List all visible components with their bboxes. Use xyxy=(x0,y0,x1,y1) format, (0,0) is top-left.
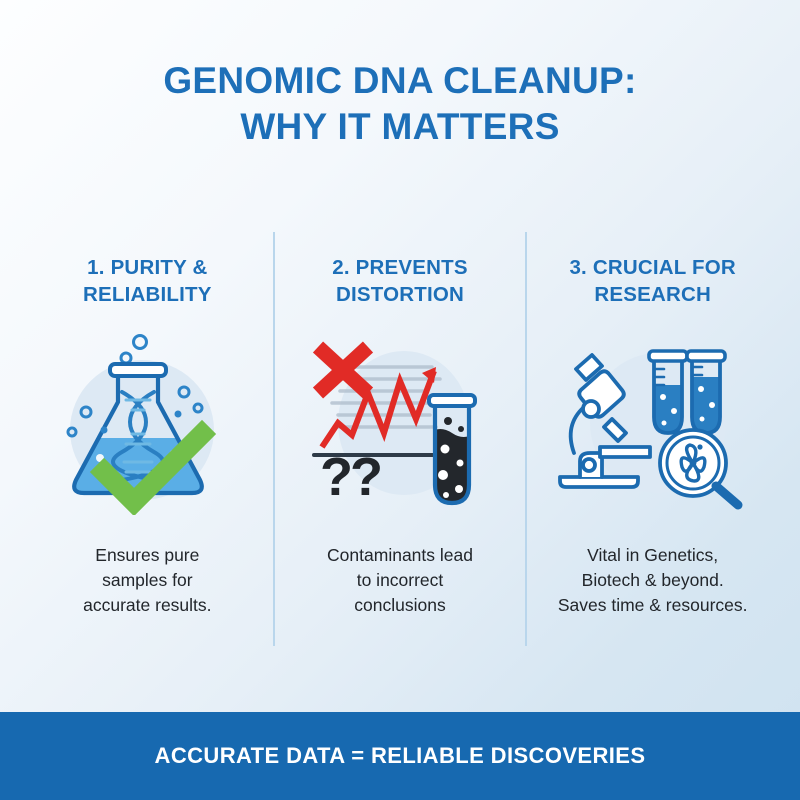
column-2-caption-line-2: to incorrect xyxy=(327,568,473,593)
column-1-caption-line-2: samples for xyxy=(83,568,211,593)
column-2-caption: Contaminants lead to incorrect conclusio… xyxy=(327,543,473,646)
column-3-heading-line-1: 3. CRUCIAL FOR xyxy=(569,254,735,281)
question-mark-1: ? xyxy=(320,447,353,507)
column-1-heading: 1. PURITY & RELIABILITY xyxy=(83,254,212,308)
microscope-testtubes-magnifier-icon xyxy=(550,335,755,510)
column-1-caption-line-1: Ensures pure xyxy=(83,543,211,568)
column-2-heading: 2. PREVENTS DISTORTION xyxy=(332,254,468,308)
column-1-caption: Ensures pure samples for accurate result… xyxy=(83,543,211,646)
columns-container: 1. PURITY & RELIABILITY xyxy=(22,232,778,646)
column-2-caption-line-3: conclusions xyxy=(327,593,473,618)
column-3-heading: 3. CRUCIAL FOR RESEARCH xyxy=(569,254,735,308)
column-1-caption-line-3: accurate results. xyxy=(83,593,211,618)
column-3-caption-line-3: Saves time & resources. xyxy=(558,593,748,618)
column-prevents-distortion: 2. PREVENTS DISTORTION xyxy=(275,232,526,646)
column-2-heading-line-2: DISTORTION xyxy=(332,281,468,308)
footer-banner: ACCURATE DATA = RELIABLE DISCOVERIES xyxy=(0,712,800,800)
title-line-1: GENOMIC DNA CLEANUP: xyxy=(0,58,800,104)
column-1-heading-line-1: 1. PURITY & xyxy=(83,254,212,281)
column-purity-reliability: 1. PURITY & RELIABILITY xyxy=(22,232,273,646)
column-crucial-for-research: 3. CRUCIAL FOR RESEARCH xyxy=(527,232,778,646)
column-3-caption-line-1: Vital in Genetics, xyxy=(558,543,748,568)
column-3-heading-line-2: RESEARCH xyxy=(569,281,735,308)
title-line-2: WHY IT MATTERS xyxy=(0,104,800,150)
footer-tagline: ACCURATE DATA = RELIABLE DISCOVERIES xyxy=(155,743,646,769)
column-1-heading-line-2: RELIABILITY xyxy=(83,281,212,308)
error-chart-testtube-icon: ? ? xyxy=(300,337,500,509)
flask-dna-checkmark-icon xyxy=(42,330,252,515)
column-2-heading-line-1: 2. PREVENTS xyxy=(332,254,468,281)
infographic-canvas: GENOMIC DNA CLEANUP: WHY IT MATTERS 1. P… xyxy=(0,0,800,800)
column-3-caption-line-2: Biotech & beyond. xyxy=(558,568,748,593)
page-title: GENOMIC DNA CLEANUP: WHY IT MATTERS xyxy=(0,58,800,150)
column-3-caption: Vital in Genetics, Biotech & beyond. Sav… xyxy=(558,543,748,646)
column-2-artwork: ? ? xyxy=(281,308,520,543)
column-3-artwork xyxy=(533,308,772,543)
question-mark-2: ? xyxy=(350,447,383,507)
column-2-caption-line-1: Contaminants lead xyxy=(327,543,473,568)
column-1-artwork xyxy=(28,308,267,543)
